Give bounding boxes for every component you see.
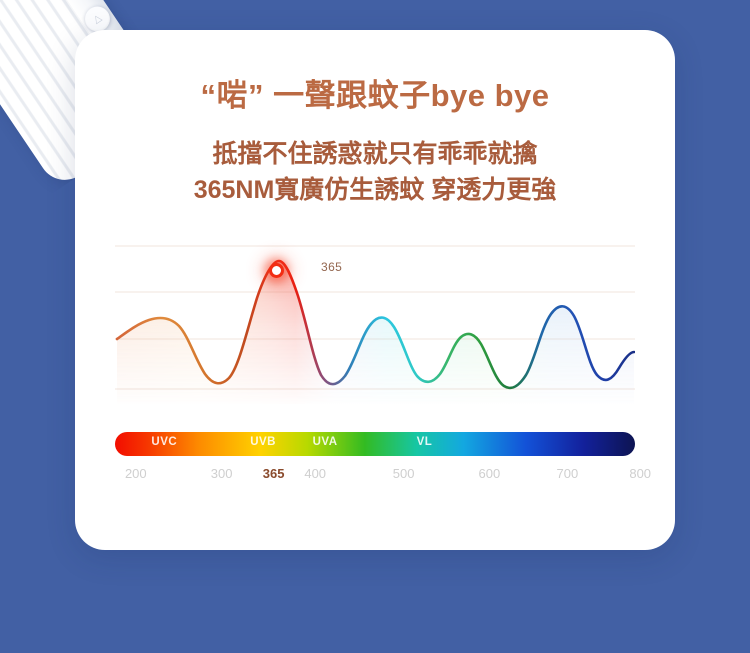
axis-tick-400: 400 bbox=[304, 466, 326, 481]
axis-tick-600: 600 bbox=[479, 466, 501, 481]
page-title: “啱” 一聲跟蚊子bye bye bbox=[75, 70, 675, 115]
subtitle-line-1: 抵擋不住誘惑就只有乖乖就擒 bbox=[75, 137, 675, 173]
spectrum-legend: UVC UVB UVA VL bbox=[115, 432, 635, 456]
chart-area-fill bbox=[117, 261, 634, 404]
axis-tick-300: 300 bbox=[211, 466, 233, 481]
info-card: “啱” 一聲跟蚊子bye bye 抵擋不住誘惑就只有乖乖就擒 365NM寬廣仿生… bbox=[75, 30, 675, 550]
wavelength-axis: 200 300 365 400 500 600 700 800 bbox=[115, 466, 635, 488]
band-label-uva: UVA bbox=[313, 436, 338, 448]
axis-tick-800: 800 bbox=[629, 466, 651, 481]
peak-value-label: 365 bbox=[321, 260, 342, 274]
page-subtitle: 抵擋不住誘惑就只有乖乖就擒 365NM寬廣仿生誘蚊 穿透力更強 bbox=[75, 137, 675, 208]
band-label-uvc: UVC bbox=[151, 436, 177, 448]
spectral-curve-svg bbox=[115, 234, 635, 404]
spectral-chart: 365 bbox=[115, 234, 635, 404]
axis-tick-500: 500 bbox=[393, 466, 415, 481]
peak-marker-365[interactable] bbox=[269, 263, 284, 278]
axis-tick-700: 700 bbox=[557, 466, 579, 481]
spectrum-gradient-bar: UVC UVB UVA VL bbox=[115, 432, 635, 456]
band-label-uvb: UVB bbox=[250, 436, 276, 448]
subtitle-line-2: 365NM寬廣仿生誘蚊 穿透力更強 bbox=[75, 173, 675, 209]
axis-tick-365: 365 bbox=[263, 466, 285, 481]
band-label-vl: VL bbox=[417, 436, 433, 448]
axis-tick-200: 200 bbox=[125, 466, 147, 481]
